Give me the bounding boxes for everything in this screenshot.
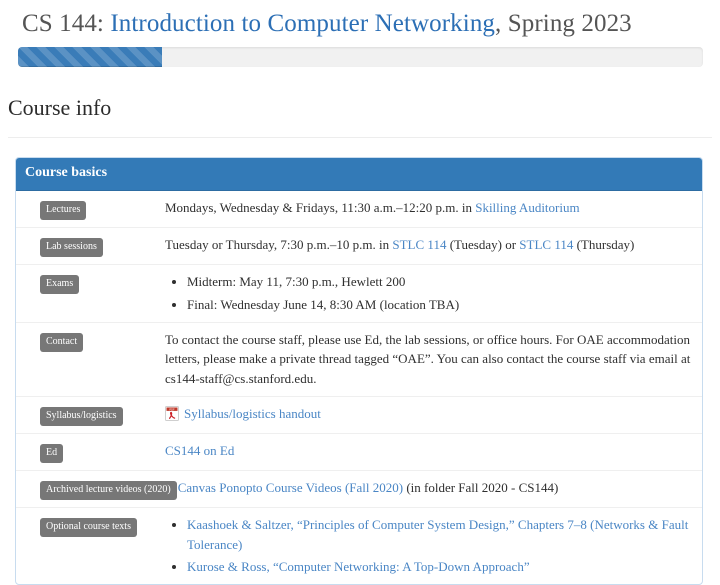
- row-text-trailing: (in folder Fall 2020 - CS144): [403, 480, 558, 495]
- row-label-badge: Exams: [40, 275, 79, 294]
- row-link[interactable]: Canvas Ponopto Course Videos (Fall 2020): [178, 480, 403, 495]
- table-row: Lab sessionsTuesday or Thursday, 7:30 p.…: [16, 228, 702, 265]
- row-text: Tuesday or Thursday, 7:30 p.m.–10 p.m. i…: [165, 237, 392, 252]
- row-link[interactable]: Skilling Auditorium: [475, 200, 579, 215]
- row-content-cell: Kaashoek & Saltzer, “Principles of Compu…: [164, 515, 692, 577]
- bullet-list: Kaashoek & Saltzer, “Principles of Compu…: [165, 515, 692, 577]
- row-label-cell: Contact: [16, 330, 164, 352]
- table-row: ContactTo contact the course staff, plea…: [16, 323, 702, 397]
- svg-text:PDF: PDF: [169, 407, 175, 411]
- row-content-cell: PDFSyllabus/logistics handout: [164, 404, 692, 424]
- course-term: , Spring 2023: [495, 10, 632, 37]
- row-content-cell: CS144 on Ed: [164, 441, 692, 461]
- row-content-cell: Canvas Ponopto Course Videos (Fall 2020)…: [177, 478, 692, 498]
- row-link-secondary[interactable]: STLC 114: [519, 237, 573, 252]
- row-content-cell: Midterm: May 11, 7:30 p.m., Hewlett 200F…: [164, 272, 692, 315]
- row-label-badge: Archived lecture videos (2020): [40, 481, 177, 500]
- table-row: Syllabus/logisticsPDFSyllabus/logistics …: [16, 397, 702, 434]
- pdf-icon: PDF: [165, 406, 179, 421]
- course-text-link[interactable]: Kaashoek & Saltzer, “Principles of Compu…: [187, 517, 688, 552]
- row-label-cell: Syllabus/logistics: [16, 404, 164, 426]
- row-content-cell: To contact the course staff, please use …: [164, 330, 692, 389]
- course-title-link[interactable]: Introduction to Computer Networking: [110, 10, 495, 37]
- panel-title: Course basics: [16, 158, 702, 191]
- progress-bar-fill: [18, 47, 162, 67]
- list-item: Kurose & Ross, “Computer Networking: A T…: [187, 557, 692, 577]
- row-text: Mondays, Wednesday & Fridays, 11:30 a.m.…: [165, 200, 475, 215]
- row-link[interactable]: STLC 114: [392, 237, 446, 252]
- progress-bar-track: [18, 47, 703, 67]
- row-label-cell: Optional course texts: [16, 515, 164, 537]
- page-root: CS 144: Introduction to Computer Network…: [0, 0, 720, 585]
- heading-divider: [8, 137, 712, 138]
- bullet-list: Midterm: May 11, 7:30 p.m., Hewlett 200F…: [165, 272, 692, 315]
- panel-body: LecturesMondays, Wednesday & Fridays, 11…: [16, 191, 702, 584]
- row-content-cell: Mondays, Wednesday & Fridays, 11:30 a.m.…: [164, 198, 692, 218]
- course-code: CS 144:: [22, 10, 104, 37]
- row-text: (Tuesday) or: [446, 237, 519, 252]
- row-content-cell: Tuesday or Thursday, 7:30 p.m.–10 p.m. i…: [164, 235, 692, 255]
- row-label-badge: Ed: [40, 444, 63, 463]
- row-text-trailing: (Thursday): [573, 237, 634, 252]
- table-row: ExamsMidterm: May 11, 7:30 p.m., Hewlett…: [16, 265, 702, 323]
- row-label-badge: Lectures: [40, 201, 86, 220]
- list-item: Midterm: May 11, 7:30 p.m., Hewlett 200: [187, 272, 692, 292]
- course-basics-panel: Course basics LecturesMondays, Wednesday…: [15, 157, 703, 585]
- table-row: Archived lecture videos (2020)Canvas Pon…: [16, 471, 702, 508]
- contact-paragraph: To contact the course staff, please use …: [165, 330, 692, 389]
- row-link[interactable]: CS144 on Ed: [165, 443, 234, 458]
- table-row: LecturesMondays, Wednesday & Fridays, 11…: [16, 191, 702, 228]
- table-row: Optional course textsKaashoek & Saltzer,…: [16, 508, 702, 584]
- row-link[interactable]: Syllabus/logistics handout: [184, 406, 321, 421]
- page-title: CS 144: Introduction to Computer Network…: [0, 0, 720, 39]
- row-label-cell: Ed: [16, 441, 164, 463]
- list-item: Final: Wednesday June 14, 8:30 AM (locat…: [187, 295, 692, 315]
- row-label-badge: Lab sessions: [40, 238, 103, 257]
- row-label-badge: Syllabus/logistics: [40, 407, 123, 426]
- row-label-cell: Exams: [16, 272, 164, 294]
- list-item: Kaashoek & Saltzer, “Principles of Compu…: [187, 515, 692, 555]
- row-label-cell: Lab sessions: [16, 235, 164, 257]
- row-label-cell: Lectures: [16, 198, 164, 220]
- section-heading: Course info: [0, 67, 720, 120]
- row-label-badge: Contact: [40, 333, 83, 352]
- row-label-badge: Optional course texts: [40, 518, 137, 537]
- course-text-link[interactable]: Kurose & Ross, “Computer Networking: A T…: [187, 559, 530, 574]
- table-row: EdCS144 on Ed: [16, 434, 702, 471]
